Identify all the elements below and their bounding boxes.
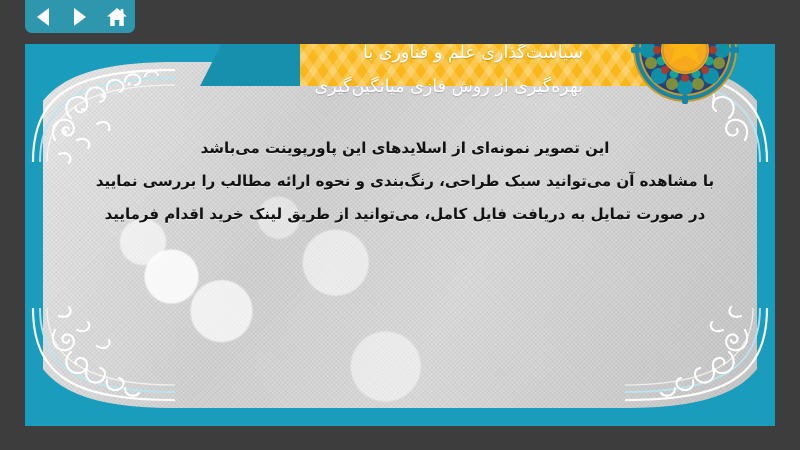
body-line: با مشاهده آن می‌توانید سبک طراحی، رنگ‌بن… xyxy=(85,165,725,198)
islamic-medallion-icon xyxy=(631,44,739,104)
navigation-toolbar xyxy=(25,0,135,33)
next-slide-button[interactable] xyxy=(67,5,93,29)
body-line: این تصویر نمونه‌ای از اسلایدهای این پاور… xyxy=(85,132,725,165)
slide-viewer: کامل خوشه‌بندی گفتمان‌های سیاست‌گذاری عل… xyxy=(0,0,800,450)
previous-slide-button[interactable] xyxy=(30,5,56,29)
triangle-left-icon xyxy=(37,8,49,26)
ribbon-tail xyxy=(200,44,305,86)
home-button[interactable] xyxy=(104,5,130,29)
slide-canvas: کامل خوشه‌بندی گفتمان‌های سیاست‌گذاری عل… xyxy=(25,44,775,426)
body-line: در صورت تمایل به دریافت فایل کامل، می‌تو… xyxy=(85,198,725,231)
slide-body-text: این تصویر نمونه‌ای از اسلایدهای این پاور… xyxy=(85,132,725,231)
home-icon xyxy=(106,7,128,27)
slide-content-panel xyxy=(43,62,757,408)
triangle-right-icon xyxy=(74,8,86,26)
